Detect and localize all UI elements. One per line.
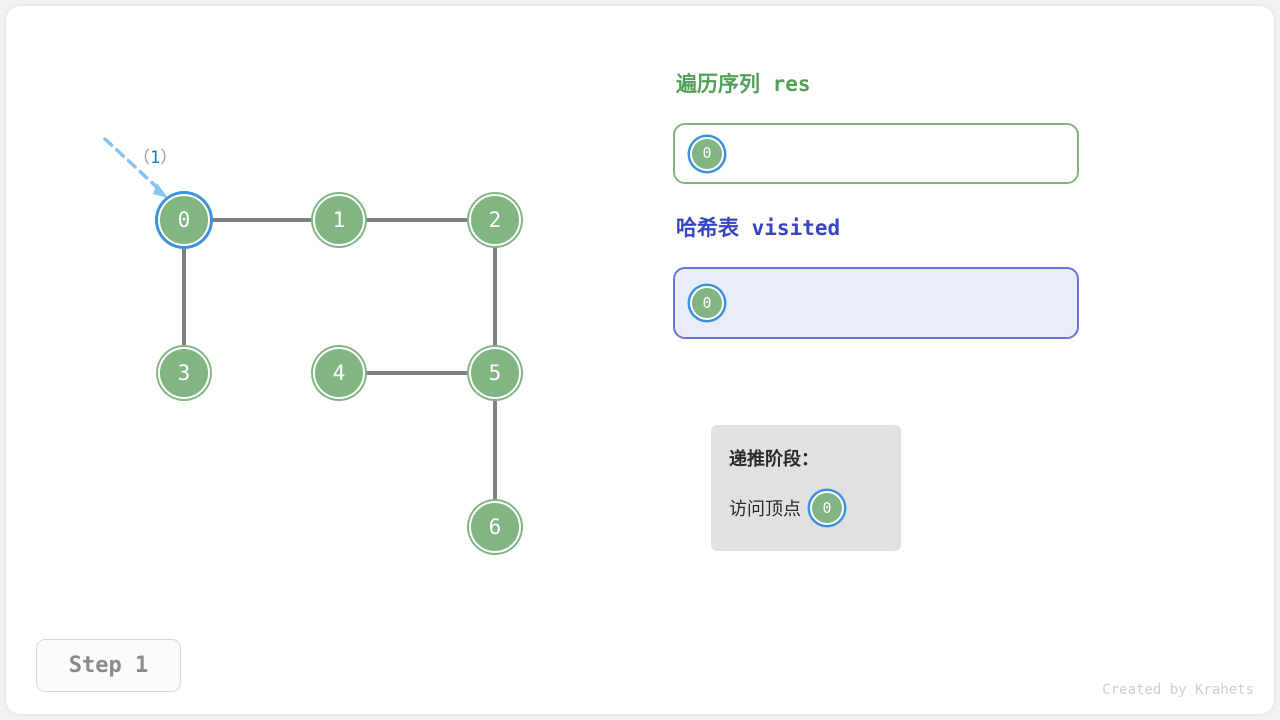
node-label: 2 [489, 210, 502, 231]
graph-node-6[interactable]: 6 [469, 501, 521, 553]
credit-text: Created by Krahets [1102, 682, 1254, 698]
visit-text: 访问顶点 [729, 495, 801, 521]
visited-chip-0[interactable]: 0 [690, 286, 724, 320]
side-panel: 遍历序列 res 0 哈希表 visited 0 递推阶段： 访问顶点 0 [672, 6, 1272, 714]
step-badge: Step 1 [36, 639, 181, 692]
phase-infobox: 递推阶段： 访问顶点 0 [711, 425, 901, 551]
annotation-number: 1 [150, 148, 160, 168]
res-tray: 0 [673, 123, 1079, 184]
chip-label: 0 [702, 296, 711, 311]
node-label: 6 [489, 517, 502, 538]
graph-node-2[interactable]: 2 [469, 194, 521, 246]
chip-label: 0 [702, 146, 711, 161]
node-label: 5 [489, 363, 502, 384]
res-section-title: 遍历序列 res [676, 68, 811, 98]
graph-node-0[interactable]: 0 [158, 194, 210, 246]
visited-section-title: 哈希表 visited [676, 212, 840, 242]
visit-row: 访问顶点 0 [729, 491, 901, 525]
graph-node-3[interactable]: 3 [158, 347, 210, 399]
step-annotation: （1） [133, 143, 177, 168]
res-chip-0[interactable]: 0 [690, 137, 724, 171]
node-label: 0 [178, 210, 191, 231]
graph-node-1[interactable]: 1 [313, 194, 365, 246]
visited-tray: 0 [673, 267, 1079, 339]
graph-canvas: （1） 0 1 2 3 4 5 6 [6, 6, 666, 714]
annotation-close-paren: ） [160, 148, 177, 168]
visit-node-chip: 0 [810, 491, 844, 525]
step-badge-label: Step 1 [69, 653, 148, 678]
annotation-open-paren: （ [133, 148, 150, 168]
node-label: 4 [333, 363, 346, 384]
node-label: 3 [178, 363, 191, 384]
graph-node-4[interactable]: 4 [313, 347, 365, 399]
slide-card: （1） 0 1 2 3 4 5 6 遍历序列 res 0 哈希表 visited… [6, 6, 1274, 714]
graph-node-5[interactable]: 5 [469, 347, 521, 399]
phase-label: 递推阶段： [729, 445, 901, 471]
node-label: 1 [333, 210, 346, 231]
chip-label: 0 [822, 501, 831, 516]
